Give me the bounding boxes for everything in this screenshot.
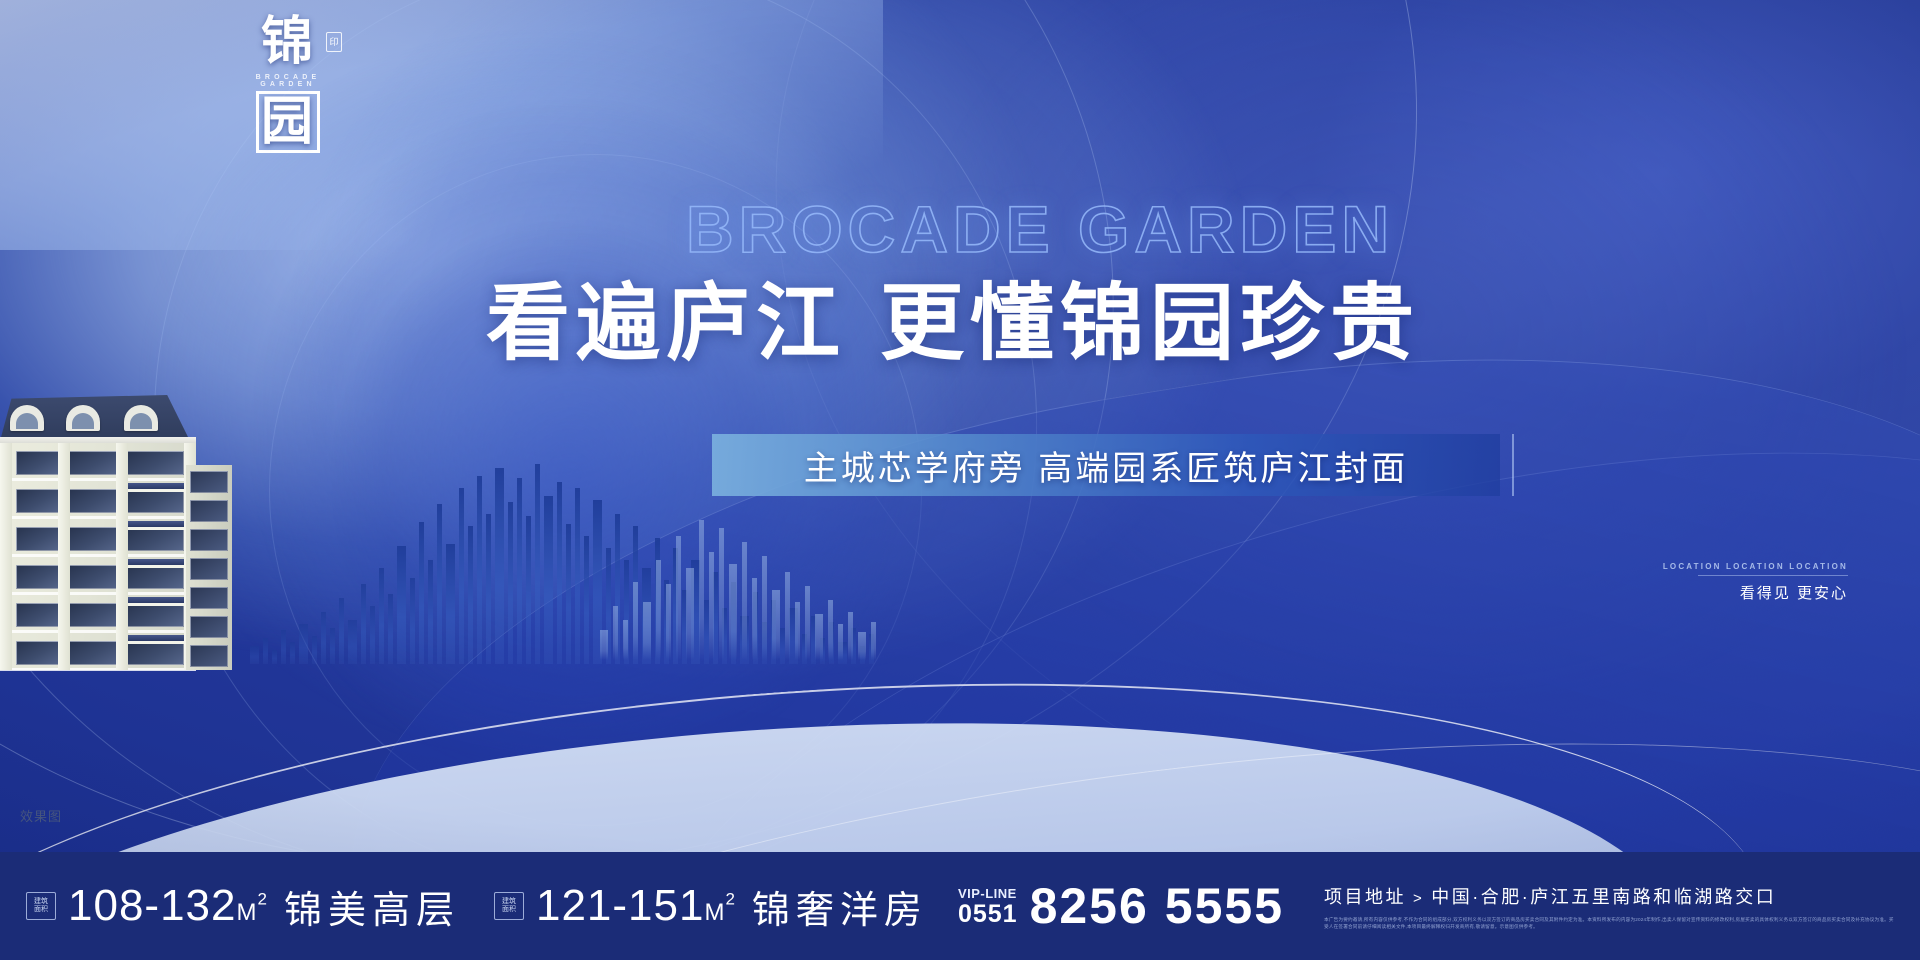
bottom-info-bar: 建筑 面积 108-132M2 锦美高层 建筑 面积 121-151M2 锦奢洋… xyxy=(0,852,1920,960)
subtitle-banner: 主城芯学府旁 高端园系匠筑庐江封面 xyxy=(712,434,1500,496)
unit-product-1: 锦美高层 xyxy=(284,879,460,934)
unit-area-sup-1: 2 xyxy=(257,889,267,908)
area-badge-line2: 面积 xyxy=(502,906,516,914)
logo-char-top: 锦 xyxy=(236,14,340,70)
area-badge-icon: 建筑 面积 xyxy=(26,892,56,920)
hotline-label-en: VIP-LINE xyxy=(958,886,1018,901)
headline-english-outline: BROCADE GARDEN xyxy=(686,196,1394,262)
area-badge-line1: 建筑 xyxy=(502,898,516,906)
unit-area-2: 121-151M2 xyxy=(536,881,736,931)
logo-char-bottom-frame: 园 xyxy=(256,91,320,153)
area-badge-line1: 建筑 xyxy=(34,898,48,906)
hotline-number[interactable]: 82565555 xyxy=(1030,877,1284,935)
headline-chinese-left: 看遍庐江 xyxy=(486,273,846,372)
brand-logo: 锦 印 BROCADE GARDEN 园 xyxy=(236,14,340,162)
unit-area-unit-2: M xyxy=(704,899,725,926)
unit-product-2: 锦奢洋房 xyxy=(752,879,928,934)
subtitle-banner-tick xyxy=(1512,434,1514,496)
chevron-right-icon: > xyxy=(1413,890,1424,907)
hotline-number-part2: 5555 xyxy=(1165,878,1284,934)
unit-area-value-1: 108-132 xyxy=(68,881,236,930)
headline-chinese: 看遍庐江更懂锦园珍贵 xyxy=(486,278,1420,369)
unit-area-value-2: 121-151 xyxy=(536,881,704,930)
subtitle-text: 主城芯学府旁 高端园系匠筑庐江封面 xyxy=(804,441,1408,490)
headline-chinese-right: 更懂锦园珍贵 xyxy=(880,273,1420,372)
legal-disclaimer: 本广告为要约邀请,所有内容仅供参考,不作为合同的组成部分,双方权利义务以双方签订… xyxy=(1324,916,1894,930)
project-address-label: 项目地址 xyxy=(1324,887,1406,907)
logo-seal-icon: 印 xyxy=(326,32,342,52)
unit-area-sup-2: 2 xyxy=(725,889,735,908)
unit-area-unit-1: M xyxy=(236,899,257,926)
render-disclaimer-note: 效果图 xyxy=(20,806,62,825)
location-tagline-chinese: 看得见 更安心 xyxy=(1548,582,1848,603)
poster-canvas: 锦 印 BROCADE GARDEN 园 BROCADE GARDEN 看遍庐江… xyxy=(0,0,1920,960)
unit-area-1: 108-132M2 xyxy=(68,881,268,931)
area-badge-icon: 建筑 面积 xyxy=(494,892,524,920)
hotline-number-part1: 8256 xyxy=(1030,878,1149,934)
logo-char-bottom: 园 xyxy=(261,94,315,150)
project-address-value: 中国·合肥·庐江五里南路和临湖路交口 xyxy=(1431,887,1776,907)
hotline-label-block: VIP-LINE 0551 xyxy=(958,886,1018,927)
location-tagline-english: LOCATION LOCATION LOCATION xyxy=(1548,562,1848,571)
area-badge-line2: 面积 xyxy=(34,906,48,914)
hotline-area-code: 0551 xyxy=(958,901,1018,927)
project-address-block: 项目地址>中国·合肥·庐江五里南路和临湖路交口 本广告为要约邀请,所有内容仅供参… xyxy=(1324,883,1894,930)
location-tagline: LOCATION LOCATION LOCATION 看得见 更安心 xyxy=(1548,562,1848,603)
location-tagline-rule xyxy=(1698,575,1848,576)
logo-english-subtitle: BROCADE GARDEN xyxy=(236,74,340,88)
project-address-line: 项目地址>中国·合肥·庐江五里南路和临湖路交口 xyxy=(1324,883,1894,909)
